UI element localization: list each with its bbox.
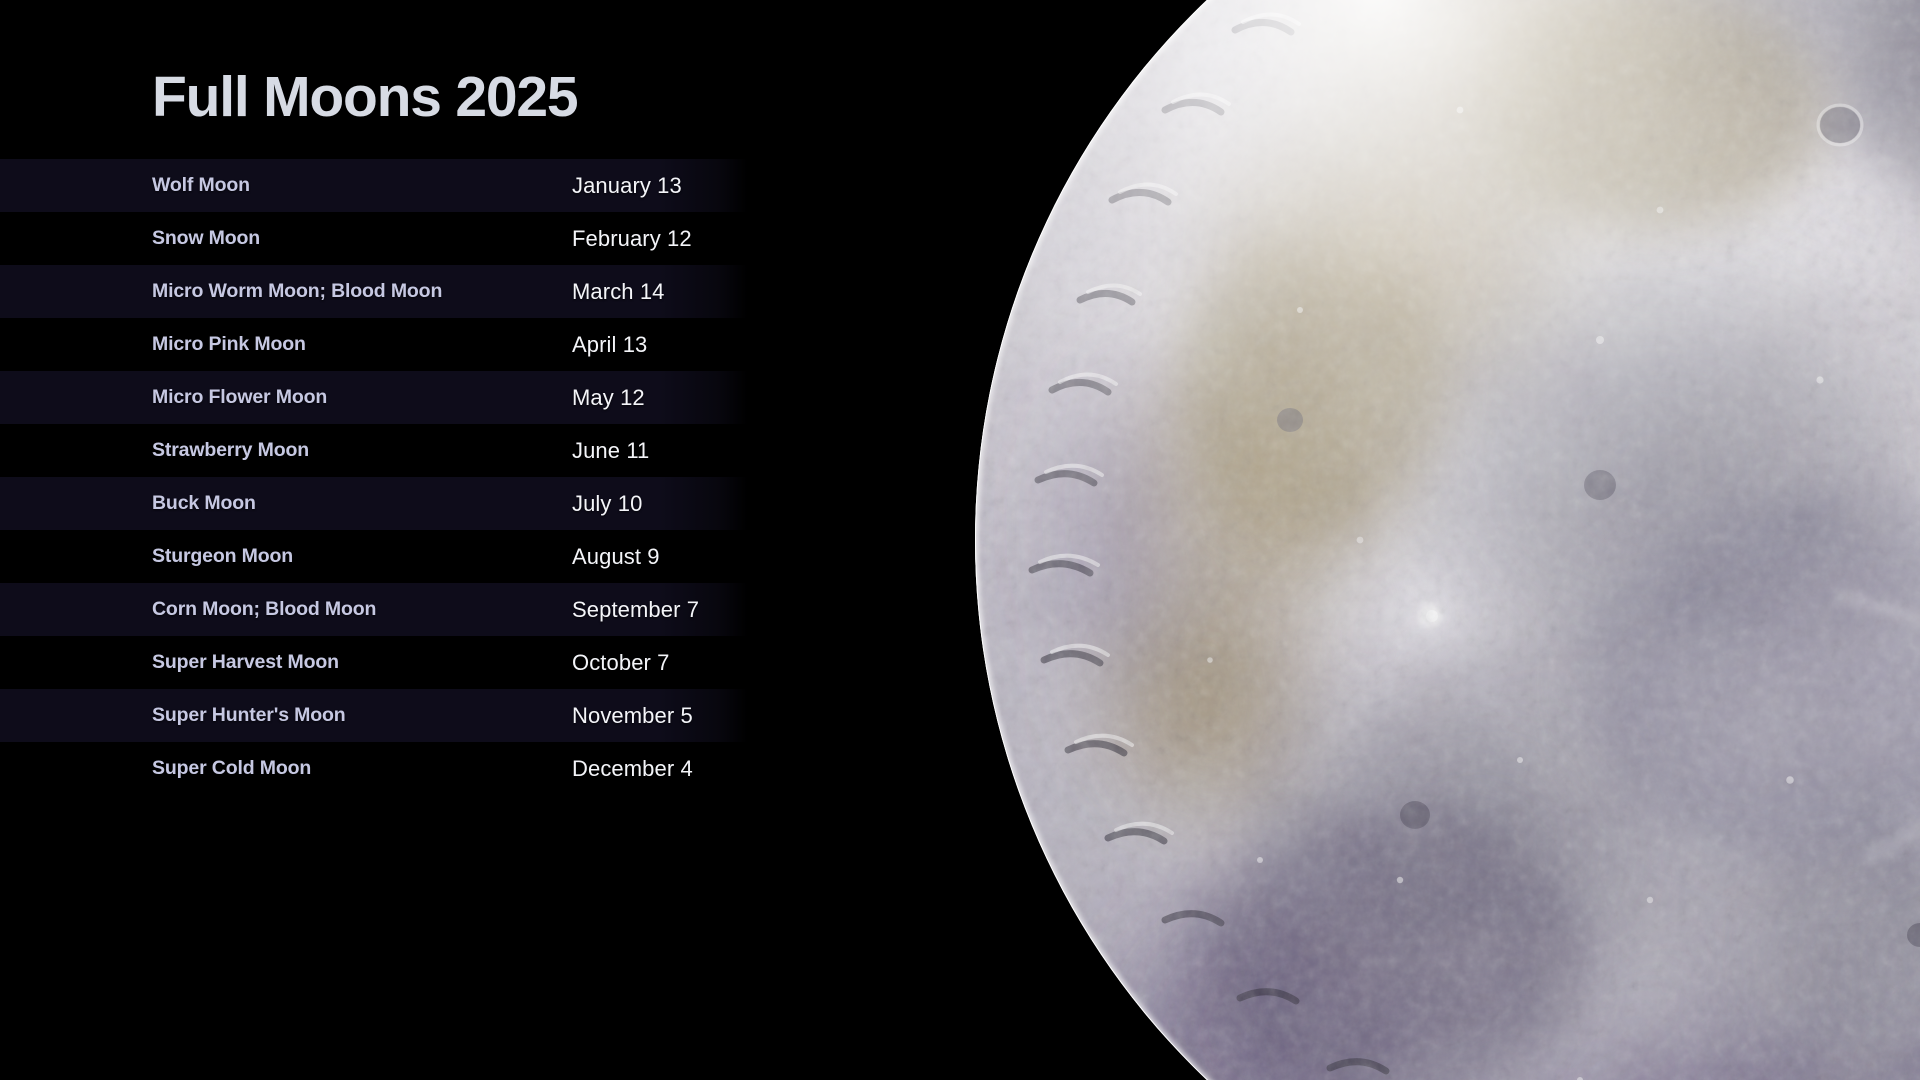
moon-name: Snow Moon [152,227,260,250]
moon-date: December 4 [572,756,693,782]
table-row: Strawberry MoonJune 11 [0,424,748,477]
table-row: Corn Moon; Blood MoonSeptember 7 [0,583,748,636]
moon-name: Buck Moon [152,492,256,515]
moon-date: January 13 [572,173,682,199]
moon-date: May 12 [572,385,645,411]
table-row: Buck MoonJuly 10 [0,477,748,530]
moon-photograph [960,0,1920,1080]
moon-date: April 13 [572,332,647,358]
full-moons-table: Wolf MoonJanuary 13Snow MoonFebruary 12M… [0,159,980,795]
moon-name: Strawberry Moon [152,439,309,462]
table-row: Super Cold MoonDecember 4 [0,742,748,795]
table-row: Wolf MoonJanuary 13 [0,159,748,212]
table-row: Super Harvest MoonOctober 7 [0,636,748,689]
moon-date: June 11 [572,438,649,464]
moon-date: October 7 [572,650,670,676]
moon-name: Super Hunter's Moon [152,704,346,727]
moon-date: November 5 [572,703,693,729]
moon-date: August 9 [572,544,660,570]
moon-date: March 14 [572,279,665,305]
table-row: Snow MoonFebruary 12 [0,212,748,265]
moon-name: Wolf Moon [152,174,250,197]
table-row: Micro Flower MoonMay 12 [0,371,748,424]
moon-name: Super Harvest Moon [152,651,339,674]
moon-name: Micro Pink Moon [152,333,306,356]
moon-name: Corn Moon; Blood Moon [152,598,376,621]
poster-canvas: Full Moons 2025 Wolf MoonJanuary 13Snow … [0,0,1920,1080]
moon-date: July 10 [572,491,642,517]
table-row: Super Hunter's MoonNovember 5 [0,689,748,742]
table-row: Micro Worm Moon; Blood MoonMarch 14 [0,265,748,318]
table-row: Micro Pink MoonApril 13 [0,318,748,371]
full-moons-panel: Full Moons 2025 Wolf MoonJanuary 13Snow … [0,0,980,1080]
moon-name: Sturgeon Moon [152,545,293,568]
moon-name: Micro Flower Moon [152,386,327,409]
table-row: Sturgeon MoonAugust 9 [0,530,748,583]
moon-name: Super Cold Moon [152,757,311,780]
moon-date: September 7 [572,597,699,623]
page-title: Full Moons 2025 [152,68,577,128]
moon-name: Micro Worm Moon; Blood Moon [152,280,442,303]
moon-date: February 12 [572,226,692,252]
